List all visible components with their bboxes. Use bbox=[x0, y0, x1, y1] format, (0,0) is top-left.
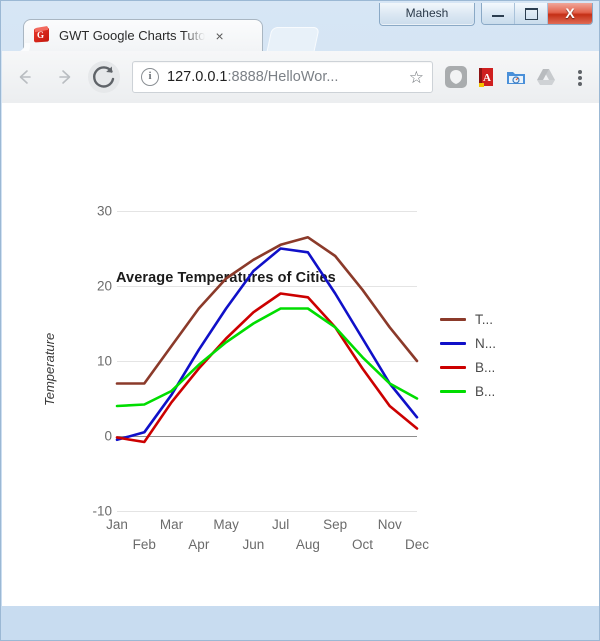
red-dictionary-book-icon[interactable]: A bbox=[472, 63, 500, 91]
browser-window: Mahesh X G GWT Google Charts Tuto × bbox=[0, 0, 600, 641]
url-host: 127.0.0.1 bbox=[167, 69, 227, 85]
svg-text:A: A bbox=[483, 72, 491, 84]
url-text: 127.0.0.1:8888/HelloWor... bbox=[167, 69, 403, 85]
legend-swatch-2 bbox=[440, 366, 466, 369]
legend-item-1[interactable]: N... bbox=[440, 332, 496, 355]
tab-title: GWT Google Charts Tuto bbox=[59, 28, 205, 43]
reload-button[interactable] bbox=[86, 59, 122, 95]
arrow-left-icon bbox=[17, 69, 33, 85]
forward-button[interactable] bbox=[48, 60, 82, 94]
google-drive-icon[interactable] bbox=[532, 63, 560, 91]
series-line-1 bbox=[117, 249, 417, 440]
back-button[interactable] bbox=[8, 60, 42, 94]
page-info-icon[interactable]: i bbox=[141, 68, 159, 86]
legend-item-3[interactable]: B... bbox=[440, 380, 496, 403]
legend-item-2[interactable]: B... bbox=[440, 356, 496, 379]
line-chart: Average Temperatures of Cities Temperatu… bbox=[2, 103, 599, 606]
chart-plot-area bbox=[2, 103, 599, 606]
legend-swatch-3 bbox=[440, 390, 466, 393]
ghostery-shield-icon[interactable] bbox=[442, 63, 470, 91]
legend-label-3: B... bbox=[475, 384, 495, 399]
blue-folder-gauge-icon[interactable] bbox=[502, 63, 530, 91]
browser-toolbar: i 127.0.0.1:8888/HelloWor... ☆ A bbox=[2, 51, 599, 104]
page-content: Average Temperatures of Cities Temperatu… bbox=[2, 103, 599, 606]
tab-strip: G GWT Google Charts Tuto × bbox=[1, 19, 599, 51]
legend-swatch-1 bbox=[440, 342, 466, 345]
window-bottom-edge bbox=[2, 606, 599, 641]
legend-label-0: T... bbox=[475, 312, 493, 327]
browser-menu-button[interactable] bbox=[567, 62, 593, 92]
tab-gwt-google-charts[interactable]: G GWT Google Charts Tuto × bbox=[23, 19, 263, 51]
menu-dot-1 bbox=[578, 70, 582, 74]
extension-icons: A bbox=[441, 63, 565, 91]
url-path: :8888/HelloWor... bbox=[227, 69, 338, 85]
bookmark-star-icon[interactable]: ☆ bbox=[409, 69, 424, 86]
legend-label-1: N... bbox=[475, 336, 496, 351]
minimize-icon bbox=[492, 15, 504, 17]
reload-icon bbox=[86, 59, 122, 95]
arrow-right-icon bbox=[57, 69, 73, 85]
menu-dot-3 bbox=[578, 82, 582, 86]
menu-dot-2 bbox=[578, 76, 582, 80]
legend-swatch-0 bbox=[440, 318, 466, 321]
address-bar[interactable]: i 127.0.0.1:8888/HelloWor... ☆ bbox=[132, 61, 433, 93]
legend-label-2: B... bbox=[475, 360, 495, 375]
chart-legend: T...N...B...B... bbox=[440, 308, 496, 404]
new-tab-button[interactable] bbox=[266, 27, 320, 53]
legend-item-0[interactable]: T... bbox=[440, 308, 496, 331]
tab-close-icon[interactable]: × bbox=[215, 29, 223, 43]
gwt-logo-icon: G bbox=[34, 27, 51, 44]
